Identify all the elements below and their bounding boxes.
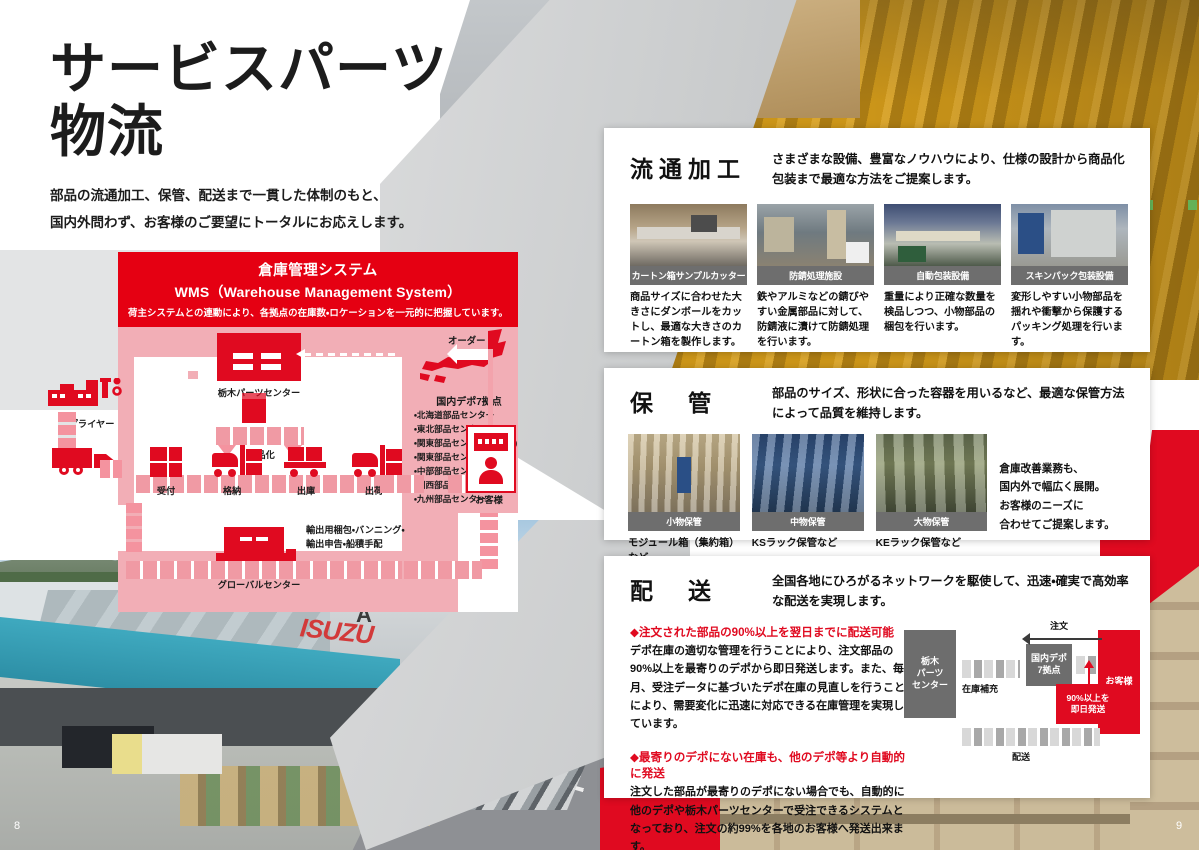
customer-label: お客様	[464, 492, 514, 506]
factory-icon	[48, 378, 126, 408]
distribution-processing-card: 流通加工 さまざまな設備、豊富なノウハウにより、仕様の設計から商品化包装まで最適…	[604, 128, 1150, 352]
storage-item: 大物保管 KEラック保管など	[876, 434, 988, 567]
storage-desc: KSラック保管など	[752, 536, 864, 551]
storage-aside: 倉庫改善業務も、 国内外で幅広く展開。 お客様のニーズに 合わせてご提案します。	[999, 434, 1132, 567]
delivery-paragraph: デポ在庫の適切な管理を行うことにより、注文部品の90%以上を最寄りのデポから即日…	[630, 642, 906, 733]
storage-aside-line: お客様のニーズに	[999, 497, 1132, 516]
page-number-right: 9	[1176, 820, 1182, 832]
wms-heading: 倉庫管理システム	[128, 259, 508, 280]
page-subtitle-line1: 部品の流通加工、保管、配送まで一貫した体制のもと、	[50, 183, 470, 209]
flow-parts-center-box: 栃木 パーツ センター	[904, 630, 956, 718]
global-center-label: グローバルセンター	[204, 577, 314, 591]
processing-title: 流通加工	[630, 150, 762, 184]
wms-subheading: WMS（Warehouse Management System）	[128, 282, 508, 302]
storage-caption: 小物保管	[628, 512, 740, 532]
flow-delivery-label: 配送	[1012, 750, 1030, 763]
processing-desc: 重量により正確な数量を検品しつつ、小物部品の梱包を行います。	[884, 290, 1001, 335]
flow-depot-box: 国内デポ 7拠点	[1026, 644, 1072, 686]
page-title-line1: サービスパーツ	[50, 38, 470, 101]
large-parts-storage-photo	[876, 434, 988, 512]
small-parts-storage-photo	[628, 434, 740, 512]
page-title-block: サービスパーツ 物流 部品の流通加工、保管、配送まで一貫した体制のもと、 国内外…	[50, 38, 470, 236]
depot-item: ・北海道部品センター	[414, 409, 526, 423]
brochure-spread: 02OTTO ISUZUA ANG ANG サービスパーツ 物流 部品の流通	[0, 0, 1199, 850]
page-title: サービスパーツ 物流	[50, 38, 470, 163]
delivery-flow-diagram: 栃木 パーツ センター 在庫補充 国内デポ 7拠点 お客様 注文 90%以上を …	[904, 620, 1140, 770]
processing-desc: 変形しやすい小物部品を揺れや衝撃から保護するパッキング処理を行います。	[1011, 290, 1128, 350]
processing-caption: 自動包装設備	[884, 266, 1001, 286]
step-receive-label: 受付	[132, 483, 200, 497]
storage-card: 保 管 部品のサイズ、形状に合った容器を用いるなど、最適な保管方法によって品質を…	[604, 368, 1150, 540]
storage-aside-line: 合わせてご提案します。	[999, 516, 1132, 535]
delivery-bullet: ◆最寄りのデポにない在庫も、他のデポ等より自動的に発送	[630, 749, 906, 781]
carton-box-lid	[242, 393, 266, 401]
processing-item: 防錆処理施設 鉄やアルミなどの錆びやすい金属部品に対して、防錆液に漬けて防錆処理…	[757, 204, 874, 351]
wms-diagram: 倉庫管理システム WMS（Warehouse Management System…	[118, 252, 518, 604]
storage-item: 小物保管 モジュール箱（集約箱）など	[628, 434, 740, 567]
delivery-title: 配 送	[630, 572, 762, 606]
depot-count-label: 国内デポ7拠点	[414, 393, 524, 408]
storage-aside-line: 国内外で幅広く展開。	[999, 478, 1132, 497]
step-pick-label: 出庫	[272, 483, 340, 497]
page-title-line2: 物流	[50, 101, 470, 164]
wms-header: 倉庫管理システム WMS（Warehouse Management System…	[118, 252, 518, 327]
storage-item: 中物保管 KSラック保管など	[752, 434, 864, 567]
processing-caption: 防錆処理施設	[757, 266, 874, 286]
carton-cutter-photo	[630, 204, 747, 266]
processing-desc: 鉄やアルミなどの錆びやすい金属部品に対して、防錆液に漬けて防錆処理を行います。	[757, 290, 874, 350]
customer-icon-box	[466, 425, 516, 493]
page-subtitle: 部品の流通加工、保管、配送まで一貫した体制のもと、 国内外問わず、お客様のご要望…	[50, 183, 470, 236]
processing-desc: 商品サイズに合わせた大きさにダンボールをカットし、最適な大きさのカートン箱を製作…	[630, 290, 747, 350]
export-note-line2: 輸出申告・船積手配	[306, 537, 418, 551]
processing-caption: スキンパック包装設備	[1011, 266, 1128, 286]
storage-aside-line: 倉庫改善業務も、	[999, 460, 1132, 479]
delivery-paragraph: 注文した部品が最寄りのデポにない場合でも、自動的に他のデポや栃木パーツセンターで…	[630, 783, 906, 850]
tochigi-parts-center-icon	[217, 333, 301, 381]
wms-note: 荷主システムとの連動により、各拠点の在庫数・ロケーションを一元的に把握しています…	[128, 305, 508, 319]
medium-parts-storage-photo	[752, 434, 864, 512]
skin-pack-photo	[1011, 204, 1128, 266]
export-note-line1: 輸出用梱包・バンニング・	[306, 523, 418, 537]
supplier-to-center-chevrons	[100, 460, 122, 478]
wms-flow-body: 栃木パーツセンター 商品化 受付	[118, 327, 518, 612]
processing-item: カートン箱サンプルカッター 商品サイズに合わせた大きさにダンボールをカットし、最…	[630, 204, 747, 351]
flow-badge: 90%以上を 即日発送	[1056, 684, 1120, 724]
delivery-card: 配 送 全国各地にひろがるネットワークを駆使して、迅速・確実で高効率な配送を実現…	[604, 556, 1150, 798]
processing-item: 自動包装設備 重量により正確な数量を検品しつつ、小物部品の梱包を行います。	[884, 204, 1001, 351]
delivery-bullet: ◆注文された部品の90%以上を翌日までに配送可能	[630, 624, 906, 640]
delivery-lead: 全国各地にひろがるネットワークを駆使して、迅速・確実で高効率な配送を実現します。	[762, 572, 1130, 612]
storage-desc: KEラック保管など	[876, 536, 988, 551]
rust-prevention-photo	[757, 204, 874, 266]
processing-caption: カートン箱サンプルカッター	[630, 266, 747, 286]
processing-lead: さまざまな設備、豊富なノウハウにより、仕様の設計から商品化包装まで最適な方法をご…	[762, 150, 1130, 190]
processing-item: スキンパック包装設備 変形しやすい小物部品を揺れや衝撃から保護するパッキング処理…	[1011, 204, 1128, 351]
supplier-down-chevrons	[58, 412, 76, 448]
storage-caption: 大物保管	[876, 512, 988, 532]
storage-title: 保 管	[630, 384, 762, 418]
flow-replenish-label: 在庫補充	[962, 682, 998, 695]
carton-box-icon	[242, 399, 266, 423]
storage-caption: 中物保管	[752, 512, 864, 532]
step-store-label: 格納	[198, 483, 266, 497]
auto-packing-photo	[884, 204, 1001, 266]
page-number-left: 8	[14, 820, 20, 832]
storage-lead: 部品のサイズ、形状に合った容器を用いるなど、最適な保管方法によって品質を維持しま…	[762, 384, 1130, 424]
flow-order-label: 注文	[1050, 619, 1068, 632]
page-subtitle-line2: 国内外問わず、お客様のご要望にトータルにお応えします。	[50, 210, 470, 236]
